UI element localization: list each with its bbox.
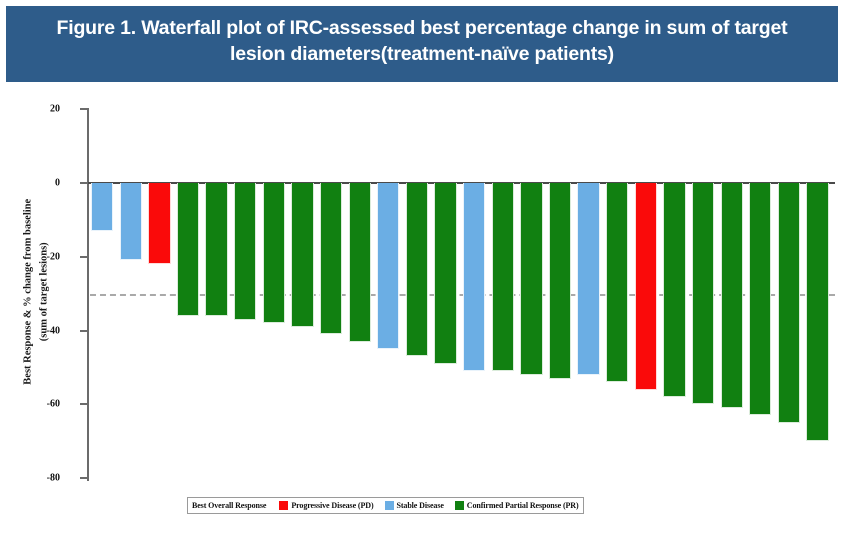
figure-title-banner: Figure 1. Waterfall plot of IRC-assessed… — [6, 6, 838, 82]
waterfall-bar — [349, 183, 371, 342]
waterfall-bar — [234, 183, 256, 320]
legend-entry-pr: Confirmed Partial Response (PR) — [455, 501, 579, 510]
waterfall-bar — [492, 183, 514, 371]
legend-entry-sd: Stable Disease — [385, 501, 444, 510]
waterfall-bar — [721, 183, 743, 408]
waterfall-bar — [692, 183, 714, 404]
waterfall-bar — [263, 183, 285, 323]
legend-title-label: Best Overall Response — [192, 501, 268, 510]
waterfall-bar — [291, 183, 313, 327]
plot-area: Best Response & % change from baseline (… — [6, 88, 838, 527]
waterfall-bar — [320, 183, 342, 334]
waterfall-bar — [377, 183, 399, 349]
legend-label-sd: Stable Disease — [397, 501, 444, 510]
figure-title: Figure 1. Waterfall plot of IRC-assessed… — [46, 16, 798, 68]
waterfall-bar — [778, 183, 800, 423]
waterfall-bar — [463, 183, 485, 371]
legend-swatch-pr — [455, 501, 464, 510]
waterfall-bar — [749, 183, 771, 415]
waterfall-bar — [406, 183, 428, 356]
legend-swatch-sd — [385, 501, 394, 510]
waterfall-bar — [663, 183, 685, 397]
legend-label-pd: Progressive Disease (PD) — [291, 501, 373, 510]
legend-swatch-pd — [279, 501, 288, 510]
waterfall-bar — [148, 183, 170, 264]
bars-layer — [6, 88, 838, 527]
waterfall-bar — [635, 183, 657, 390]
waterfall-bar — [91, 183, 113, 231]
waterfall-bar — [606, 183, 628, 382]
legend-entry-pd: Progressive Disease (PD) — [279, 501, 373, 510]
legend: Best Overall Response Progressive Diseas… — [187, 497, 584, 514]
waterfall-bar — [577, 183, 599, 375]
legend-label-pr: Confirmed Partial Response (PR) — [467, 501, 579, 510]
waterfall-bar — [120, 183, 142, 260]
waterfall-bar — [177, 183, 199, 316]
waterfall-bar — [205, 183, 227, 316]
waterfall-bar — [549, 183, 571, 379]
legend-title: Best Overall Response — [192, 501, 268, 510]
waterfall-bar — [520, 183, 542, 375]
waterfall-bar — [434, 183, 456, 364]
waterfall-bar — [806, 183, 828, 441]
figure-waterfall-plot: Figure 1. Waterfall plot of IRC-assessed… — [0, 0, 844, 533]
